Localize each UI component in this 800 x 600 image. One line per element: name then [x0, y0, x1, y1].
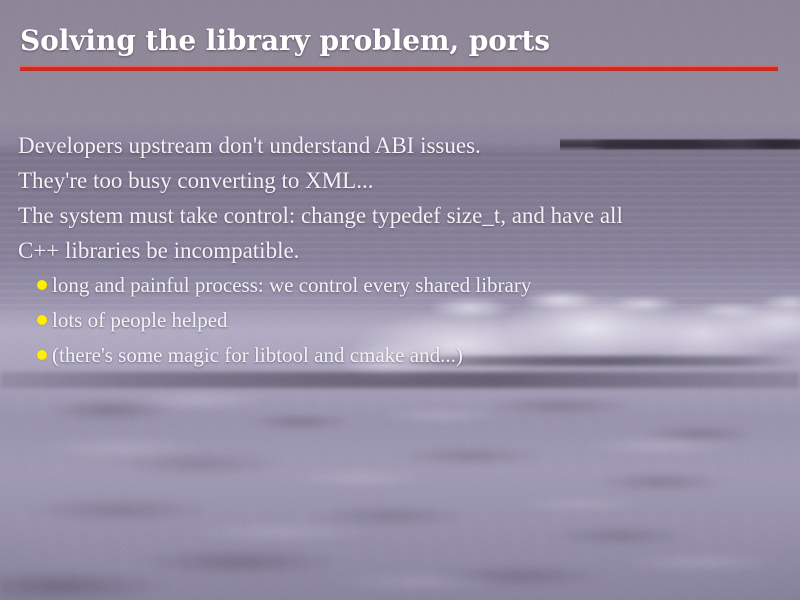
body-line: The system must take control: change typ…	[18, 198, 782, 233]
list-item-label: (there's some magic for libtool and cmak…	[52, 343, 463, 367]
bullet-dot-icon	[37, 350, 47, 360]
title-underline-rule	[20, 65, 778, 71]
list-item-label: long and painful process: we control eve…	[52, 273, 531, 297]
body-line: Developers upstream don't understand ABI…	[18, 128, 782, 163]
slide-title: Solving the library problem, ports	[20, 24, 550, 58]
bullet-dot-icon	[37, 315, 47, 325]
slide-content: Solving the library problem, ports Devel…	[0, 0, 800, 600]
slide-body: Developers upstream don't understand ABI…	[18, 128, 782, 373]
body-line: C++ libraries be incompatible.	[18, 233, 782, 268]
list-item-label: lots of people helped	[52, 308, 228, 332]
bullet-dot-icon	[37, 280, 47, 290]
presentation-slide: Solving the library problem, ports Devel…	[0, 0, 800, 600]
list-item: long and painful process: we control eve…	[18, 268, 782, 303]
bullet-list: long and painful process: we control eve…	[18, 268, 782, 373]
body-line: They're too busy converting to XML...	[18, 163, 782, 198]
list-item: (there's some magic for libtool and cmak…	[18, 338, 782, 373]
list-item: lots of people helped	[18, 303, 782, 338]
